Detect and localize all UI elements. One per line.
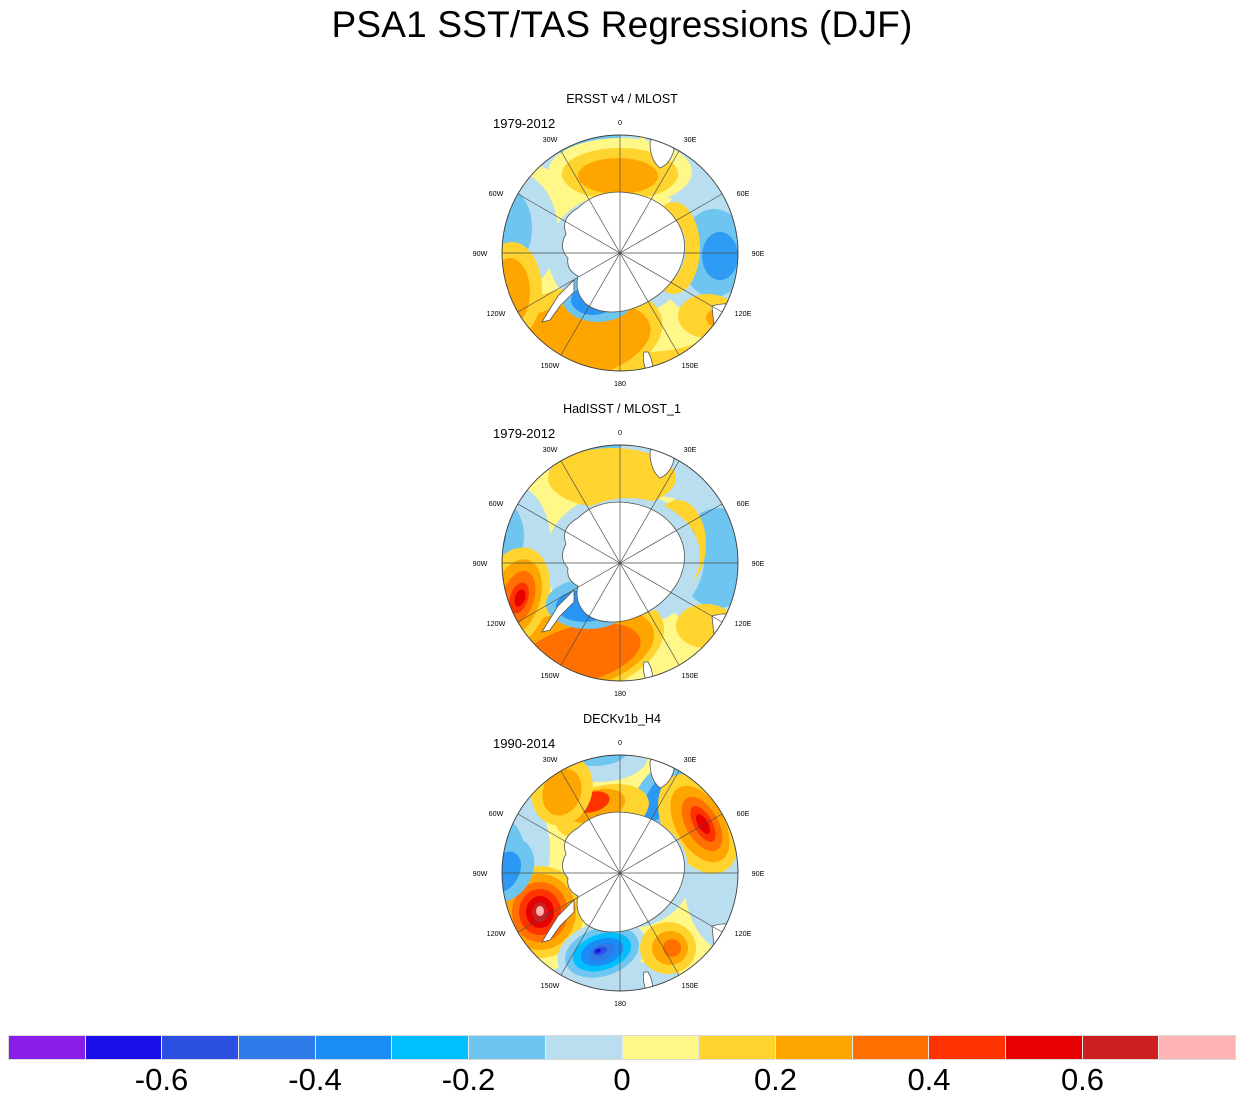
contour-field [462,420,768,720]
panel-title: ERSST v4 / MLOST [0,92,1244,106]
south-america [476,160,507,216]
panel-title: HadISST / MLOST_1 [0,402,1244,416]
contour-field [462,108,757,406]
map-hadisst: 0 30E 60E 90E 120E 150E 180 150W 120W 90… [462,430,778,696]
colorbar-cell [1006,1036,1083,1059]
lon-label-150w: 150W [541,671,560,680]
colorbar-tick: 0 [613,1062,630,1098]
lon-label-90e: 90E [752,249,765,258]
lon-label-0: 0 [618,118,622,127]
colorbar-cell [853,1036,930,1059]
colorbar-cell [546,1036,623,1059]
lon-label-150w: 150W [541,361,560,370]
lon-label-90e: 90E [752,869,765,878]
colorbar-cell [1159,1036,1235,1059]
lon-label-60e: 60E [737,809,750,818]
polar-map-svg: 0 30E 60E 90E 120E 150E 180 150W 120W 90… [462,430,778,696]
colorbar-cell [392,1036,469,1059]
lon-label-150e: 150E [682,671,699,680]
lon-label-30w: 30W [543,755,558,764]
lon-label-120w: 120W [487,309,506,318]
polar-map-svg: 0 30E 60E 90E 120E 150E 180 150W 120W 90… [462,120,778,386]
south-america [476,780,507,836]
colorbar-cell [1083,1036,1160,1059]
lon-label-180: 180 [614,999,626,1008]
lon-label-30e: 30E [684,755,697,764]
colorbar-cell [699,1036,776,1059]
lon-label-120e: 120E [735,929,752,938]
colorbar-cell [162,1036,239,1059]
map-ersst: 0 30E 60E 90E 120E 150E 180 150W 120W 90… [462,120,778,386]
lon-label-60w: 60W [489,189,504,198]
lon-label-60w: 60W [489,499,504,508]
lon-label-60e: 60E [737,499,750,508]
lon-label-90e: 90E [752,559,765,568]
colorbar-tick: 0.2 [754,1062,797,1098]
lon-label-30e: 30E [684,135,697,144]
map-deck: 0 30E 60E 90E 120E 150E 180 150W 120W 90… [462,740,778,1006]
colorbar-cell [776,1036,853,1059]
colorbar-cell [86,1036,163,1059]
lon-label-120w: 120W [487,929,506,938]
colorbar-cell [316,1036,393,1059]
colorbar-cell [9,1036,86,1059]
lon-label-120e: 120E [735,619,752,628]
lon-label-120e: 120E [735,309,752,318]
colorbar-tick-labels: -0.6-0.4-0.200.20.40.6 [8,1062,1236,1106]
lon-label-180: 180 [614,689,626,698]
lon-label-150e: 150E [682,981,699,990]
lon-label-30e: 30E [684,445,697,454]
lon-label-180: 180 [614,379,626,388]
colorbar-cell [929,1036,1006,1059]
polar-map-svg: 0 30E 60E 90E 120E 150E 180 150W 120W 90… [462,740,778,1006]
lon-label-30w: 30W [543,135,558,144]
lon-label-90w: 90W [473,249,488,258]
colorbar [8,1035,1236,1060]
colorbar-tick: 0.4 [907,1062,950,1098]
lon-label-90w: 90W [473,559,488,568]
colorbar-cell [239,1036,316,1059]
lon-label-30w: 30W [543,445,558,454]
lon-label-60e: 60E [737,189,750,198]
figure-root: PSA1 SST/TAS Regressions (DJF) ERSST v4 … [0,0,1244,1116]
lon-label-120w: 120W [487,619,506,628]
colorbar-tick: -0.4 [288,1062,341,1098]
lon-label-90w: 90W [473,869,488,878]
panel-title: DECKv1b_H4 [0,712,1244,726]
lon-label-0: 0 [618,738,622,747]
lon-label-150e: 150E [682,361,699,370]
south-america [476,470,507,526]
colorbar-tick: -0.2 [442,1062,495,1098]
colorbar-tick: 0.6 [1061,1062,1104,1098]
lon-label-150w: 150W [541,981,560,990]
lon-label-60w: 60W [489,809,504,818]
contour-field [454,730,784,1028]
colorbar-cell [469,1036,546,1059]
lon-label-0: 0 [618,428,622,437]
colorbar-tick: -0.6 [135,1062,188,1098]
figure-title: PSA1 SST/TAS Regressions (DJF) [0,4,1244,46]
colorbar-cell [623,1036,700,1059]
